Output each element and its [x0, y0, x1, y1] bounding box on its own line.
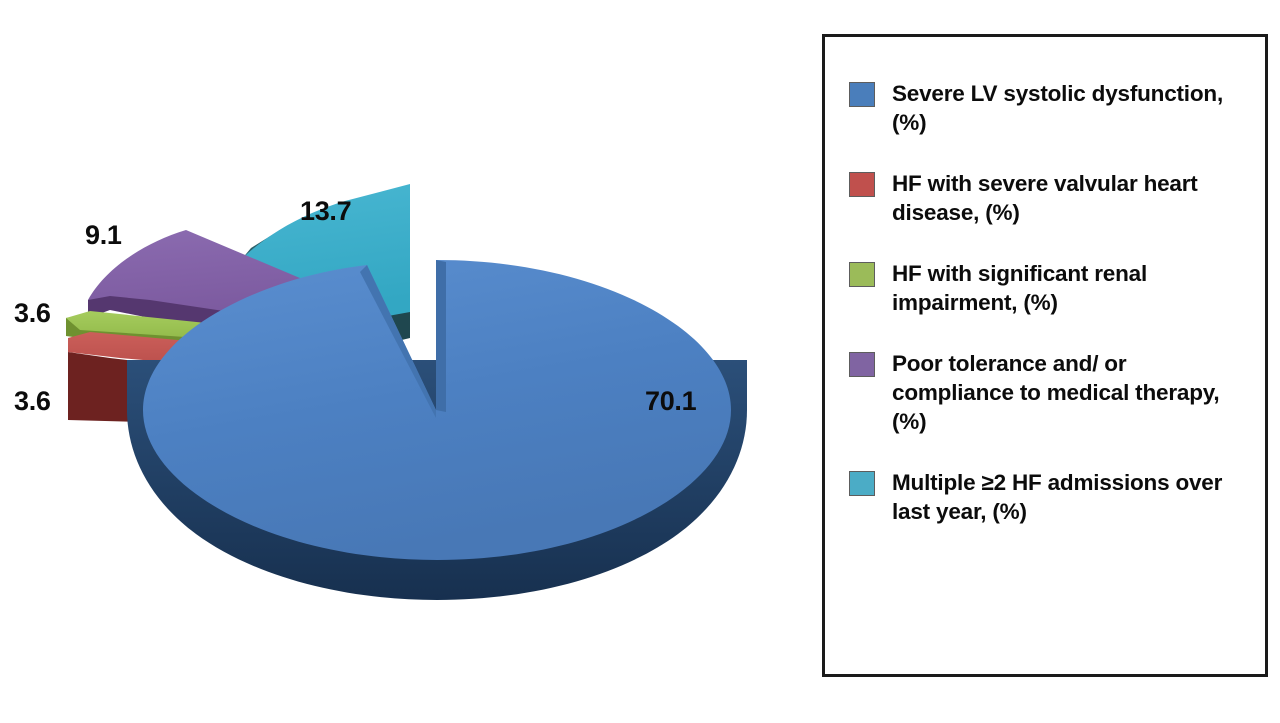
legend-swatch-purple-icon: [849, 352, 875, 377]
pie-chart-figure: 13.7 9.1 3.6 3.6 70.1 Severe LV systolic…: [0, 0, 1280, 723]
pie-slice-blue[interactable]: [127, 260, 747, 600]
pie-label-green: 3.6: [14, 300, 51, 327]
legend-label-severe-lv-systolic-dysfunction: Severe LV systolic dysfunction, (%): [892, 79, 1252, 137]
legend-swatch-red-icon: [849, 172, 875, 197]
pie-slice-blue-cut-right: [436, 260, 446, 412]
pie-label-cyan: 13.7: [300, 198, 351, 225]
legend-swatch-cyan-icon: [849, 471, 875, 496]
legend-label-poor-tolerance-compliance: Poor tolerance and/ or compliance to med…: [892, 349, 1252, 436]
chart-legend: Severe LV systolic dysfunction, (%) HF w…: [822, 34, 1268, 677]
pie-3d-graphic: [0, 0, 812, 723]
legend-item-hf-severe-valvular-heart-disease[interactable]: HF with severe valvular heart disease, (…: [849, 169, 1259, 227]
pie-label-red: 3.6: [14, 388, 51, 415]
pie-label-blue: 70.1: [645, 388, 696, 415]
legend-item-list: Severe LV systolic dysfunction, (%) HF w…: [849, 79, 1259, 526]
legend-swatch-blue-icon: [849, 82, 875, 107]
legend-item-multiple-hf-admissions[interactable]: Multiple ≥2 HF admissions over last year…: [849, 468, 1259, 526]
legend-label-multiple-hf-admissions: Multiple ≥2 HF admissions over last year…: [892, 468, 1252, 526]
legend-item-severe-lv-systolic-dysfunction[interactable]: Severe LV systolic dysfunction, (%): [849, 79, 1259, 137]
legend-item-poor-tolerance-compliance[interactable]: Poor tolerance and/ or compliance to med…: [849, 349, 1259, 436]
legend-label-hf-severe-valvular-heart-disease: HF with severe valvular heart disease, (…: [892, 169, 1252, 227]
pie-label-purple: 9.1: [85, 222, 122, 249]
legend-item-hf-significant-renal-impairment[interactable]: HF with significant renal impairment, (%…: [849, 259, 1259, 317]
pie-plot-area: 13.7 9.1 3.6 3.6 70.1: [0, 0, 812, 723]
legend-swatch-green-icon: [849, 262, 875, 287]
legend-label-hf-significant-renal-impairment: HF with significant renal impairment, (%…: [892, 259, 1252, 317]
